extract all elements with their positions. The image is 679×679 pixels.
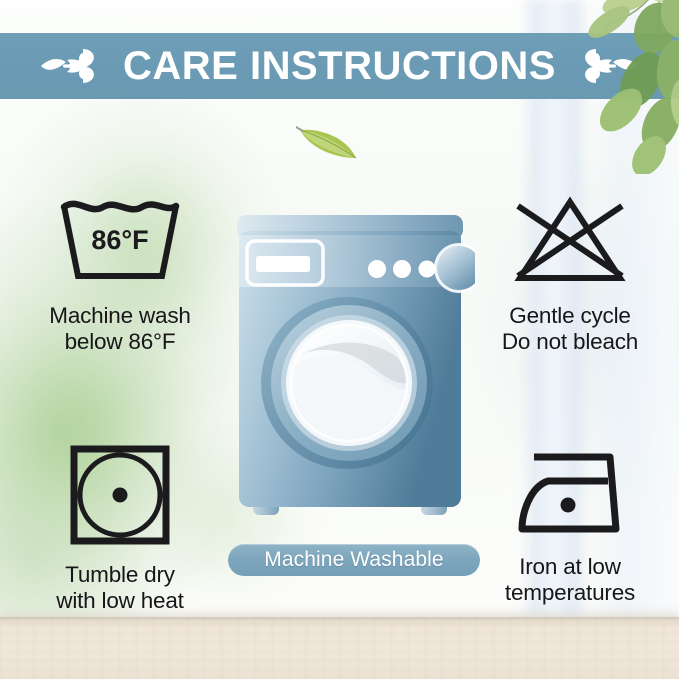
tumble-dry-square-circle-icon: [68, 443, 172, 552]
care-symbol-do-not-bleach: Gentle cycle Do not bleach: [470, 196, 670, 356]
machine-washable-badge: Machine Washable: [228, 544, 480, 576]
care-label-do-not-bleach: Gentle cycle Do not bleach: [502, 303, 638, 356]
floating-leaf-icon: [296, 120, 360, 162]
care-label-tumble-dry: Tumble dry with low heat: [56, 562, 183, 615]
care-label-iron: Iron at low temperatures: [505, 554, 635, 607]
care-symbol-tumble-dry: Tumble dry with low heat: [20, 443, 220, 615]
washing-machine-illustration: [225, 205, 475, 535]
care-instructions-infographic: CARE INSTRUCTIONS: [0, 0, 679, 679]
iron-icon: [508, 443, 632, 544]
wash-temperature-value: 86°F: [91, 225, 148, 255]
washer-indicator-dot-2: [393, 260, 411, 278]
washer-drawer-slot: [256, 256, 310, 272]
header-banner: CARE INSTRUCTIONS: [0, 33, 679, 99]
fleur-de-lis-icon-right: [578, 43, 640, 89]
wooden-table-surface: [0, 617, 679, 679]
washer-indicator-dot-3: [419, 261, 436, 278]
triangle-crossed-bleach-icon: [508, 196, 632, 293]
machine-washable-badge-label: Machine Washable: [264, 548, 443, 572]
care-symbol-iron: Iron at low temperatures: [470, 443, 670, 607]
washer-indicator-dot-1: [368, 260, 386, 278]
care-label-machine-wash: Machine wash below 86°F: [49, 303, 190, 356]
fleur-de-lis-icon-left: [39, 43, 101, 89]
page-title: CARE INSTRUCTIONS: [123, 46, 556, 86]
wash-tub-icon: 86°F: [58, 196, 182, 293]
care-symbol-machine-wash: 86°F Machine wash below 86°F: [20, 196, 220, 356]
